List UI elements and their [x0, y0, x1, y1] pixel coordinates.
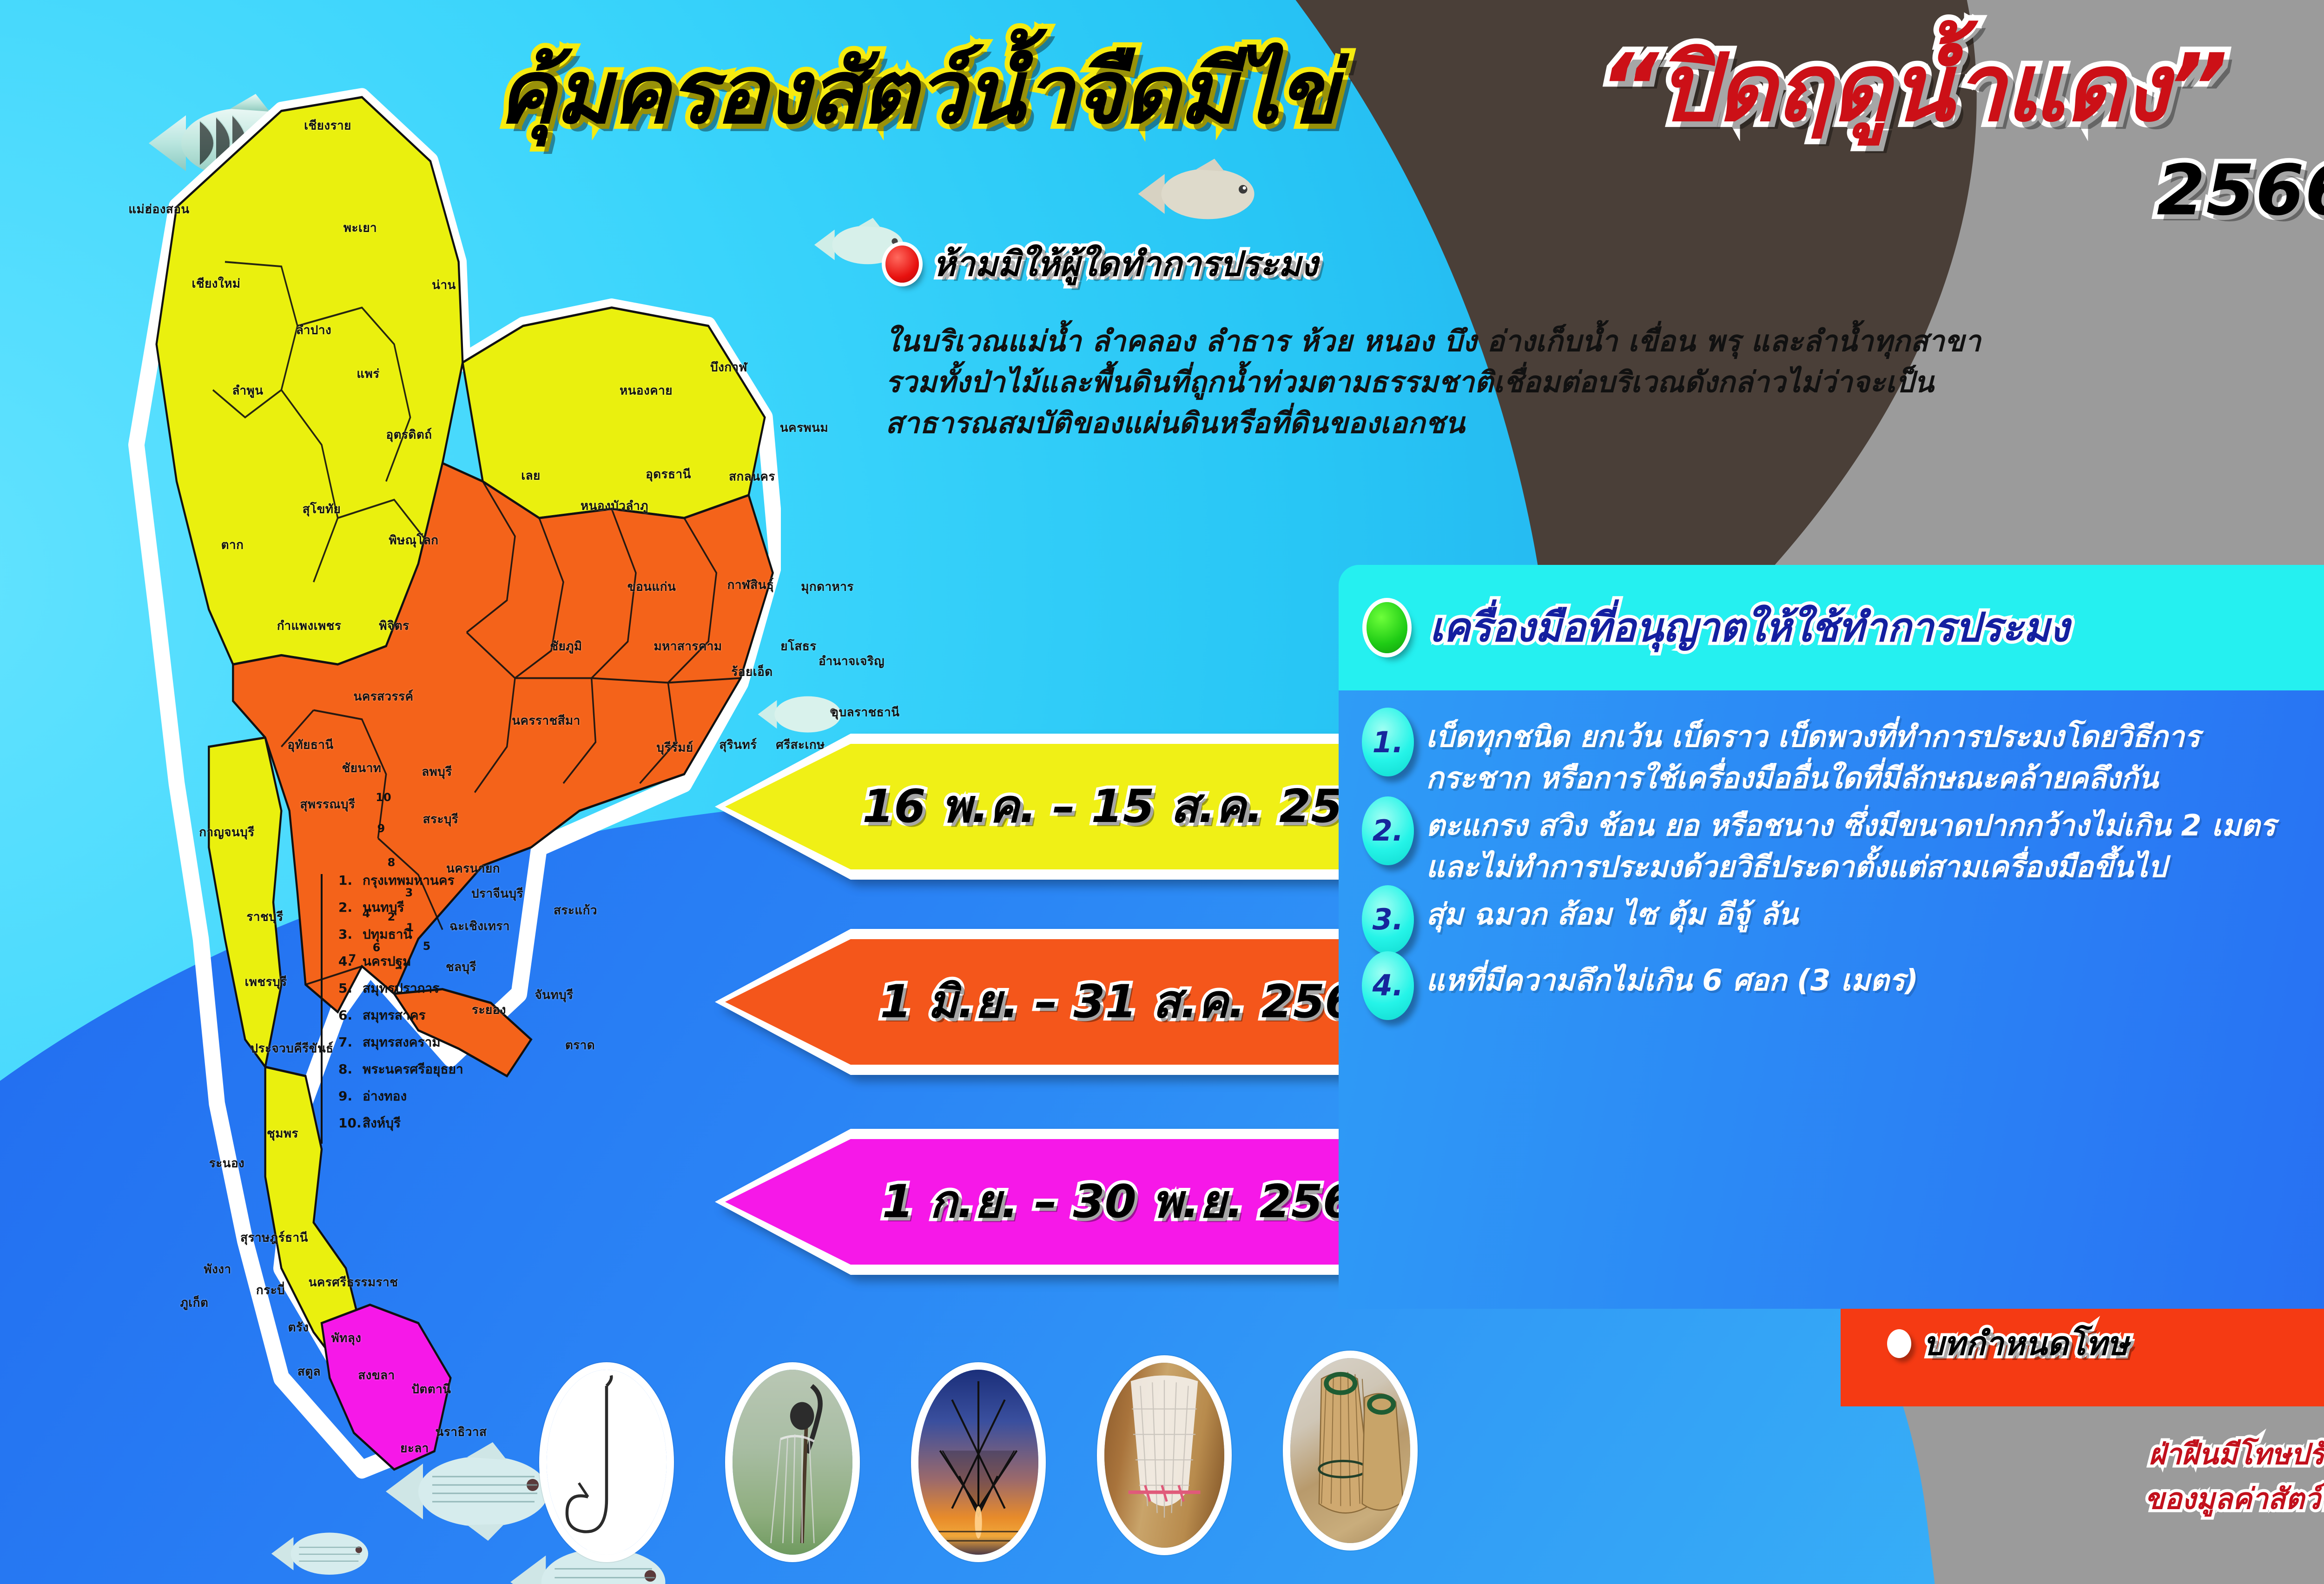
province-label-17: อุดรธานี [646, 465, 691, 484]
province-label-65: ยะลา [400, 1439, 429, 1458]
page-title-quoted: “ปิดฤดูน้ำแดง” [1599, 42, 2227, 135]
legend-item-5: 5.สมุทรปราการ [338, 982, 463, 995]
gear-item-3: 3.สุ่ม ฉมวก ส้อม ไซ ตุ้ม อีจู้ ลัน [1362, 894, 2324, 954]
penalty-text: ฝ่าฝืนมีโทษปรับตั้งแต่ 5,000 – 50,000 บา… [1868, 1432, 2324, 1521]
green-dot-icon [1367, 602, 1407, 653]
province-label-2: พะเยา [343, 219, 377, 238]
province-label-40: กาญจนบุรี [199, 823, 254, 842]
date-banner-label: 1 มิ.ย. – 31 ส.ค. 2566 [880, 979, 1388, 1025]
province-label-45: ราชบุรี [246, 908, 283, 927]
date-banner-period-1[interactable]: 16 พ.ค. – 15 ส.ค. 2566 [725, 744, 1436, 869]
gear-item-line-1: และไม่ทำการประมงด้วยวิธีประดาตั้งแต่สามเ… [1426, 846, 2324, 888]
fish-hook-photo [539, 1362, 674, 1562]
province-label-39: สระบุรี [423, 810, 459, 829]
province-label-43: สระแก้ว [554, 901, 597, 920]
cast-net-image [733, 1370, 852, 1555]
province-number-9: 9 [377, 822, 385, 835]
gear-item-text: สุ่ม ฉมวก ส้อม ไซ ตุ้ม อีจู้ ลัน [1426, 894, 2324, 935]
province-label-23: มุกดาหาร [801, 577, 854, 596]
scoop-net-photo [1097, 1355, 1232, 1555]
province-label-24: ชัยภูมิ [550, 637, 582, 656]
scoop-net-image [1104, 1363, 1224, 1548]
province-label-26: ร้อยเอ็ด [731, 663, 772, 682]
province-label-13: พิจิตร [379, 616, 409, 636]
province-label-9: สุโขทัย [303, 500, 341, 519]
province-label-50: เพชรบุรี [244, 973, 287, 992]
province-label-47: จันทบุรี [535, 986, 573, 1005]
poster-canvas: เชียงรายแม่ฮ่องสอนพะเยาน่านเชียงใหม่ลำปา… [0, 0, 2324, 1584]
province-label-33: นครราชสีมา [512, 711, 580, 730]
bamboo-trap-image [1290, 1358, 1410, 1543]
province-label-25: มหาสารคาม [654, 637, 722, 656]
province-label-27: ยโสธร [780, 637, 816, 656]
province-label-16: บึงกาฬ [710, 358, 747, 377]
province-label-56: นครศรีธรรมราช [309, 1273, 398, 1292]
lift-net-image [918, 1370, 1038, 1555]
red-dot-icon [885, 245, 919, 283]
province-label-58: ภูเก็ต [180, 1293, 209, 1312]
gear-item-line-1: กระชาก หรือการใช้เครื่องมืออื่นใดที่มีลั… [1426, 757, 2324, 799]
date-banner-label: 16 พ.ค. – 15 ส.ค. 2566 [862, 784, 1406, 829]
ban-body-line-1: รวมทั้งป่าไม้และพื้นดินที่ถูกน้ำท่วมตามธ… [885, 362, 2324, 403]
gear-item-2: 2.ตะแกรง สวิง ช้อน ยอ หรือชนาง ซึ่งมีขนา… [1362, 805, 2324, 888]
gear-item-line-0: สุ่ม ฉมวก ส้อม ไซ ตุ้ม อีจู้ ลัน [1426, 894, 2324, 935]
province-label-15: หนองคาย [620, 381, 673, 400]
province-label-29: อุบลราชธานี [831, 703, 899, 722]
legend-item-1: 1.กรุงเทพมหานคร [338, 874, 463, 887]
cast-net-photo [725, 1362, 860, 1562]
province-label-57: กระบี่ [256, 1281, 285, 1300]
white-dot-icon [1887, 1329, 1911, 1358]
province-label-61: สตูล [297, 1362, 321, 1381]
province-label-64: นราธิวาส [436, 1423, 487, 1442]
province-label-63: ปัตตานี [411, 1380, 451, 1399]
province-label-4: เชียงใหม่ [192, 274, 241, 293]
province-label-54: สุราษฎร์ธานี [240, 1228, 308, 1247]
date-banner-period-3[interactable]: 1 ก.ย. – 30 พ.ย. 2566 [725, 1139, 1436, 1265]
legend-item-8: 8.พระนครศรีอยุธยา [338, 1063, 463, 1076]
ban-headline: ห้ามมิให้ผู้ใดทำการประมง [933, 247, 1318, 281]
province-label-18: สกลนคร [729, 467, 775, 486]
province-label-20: หนองบัวลำภู [581, 497, 648, 516]
date-banner-label: 1 ก.ย. – 30 พ.ย. 2566 [882, 1179, 1386, 1225]
legend-item-10: 10.สิงห์บุรี [338, 1117, 463, 1130]
province-label-32: บุรีรัมย์ [656, 738, 693, 757]
province-label-38: สุพรรณบุรี [300, 795, 355, 814]
province-label-12: กำแพงเพชร [277, 616, 342, 636]
gear-item-text: แหที่มีความลึกไม่เกิน 6 ศอก (3 เมตร) [1426, 960, 2324, 1001]
province-label-52: ชุมพร [267, 1124, 298, 1143]
legend-item-6: 6.สมุทรสาคร [338, 1009, 463, 1022]
penalty-heading-row: บทกำหนดโทษ [1887, 1327, 2129, 1360]
legend-item-2: 2.นนทบุรี [338, 901, 463, 914]
bamboo-trap-photo [1283, 1351, 1418, 1551]
ban-body-line-0: ในบริเวณแม่น้ำ ลำคลอง ลำธาร ห้วย หนอง บึ… [885, 321, 2324, 362]
page-title: คุ้มครองสัตว์น้ำจืดมีไข่ [497, 49, 1337, 136]
province-label-59: ตรัง [288, 1318, 309, 1337]
province-label-6: แพร่ [357, 365, 379, 384]
province-label-21: ขอนแก่น [627, 577, 676, 596]
thailand-province-map[interactable]: เชียงรายแม่ฮ่องสอนพะเยาน่านเชียงใหม่ลำปา… [56, 70, 781, 1488]
province-label-35: อุทัยธานี [287, 736, 333, 755]
province-label-49: ตราด [565, 1036, 595, 1055]
gear-item-1: 1.เบ็ดทุกชนิด ยกเว้น เบ็ดราว เบ็ดพวงที่ท… [1362, 716, 2324, 799]
penalty-line-1: ของมูลค่าสัตว์น้ำที่ได้จากการทำการประมง … [1868, 1477, 2324, 1521]
penalty-heading: บทกำหนดโทษ [1923, 1327, 2129, 1360]
gear-item-text: เบ็ดทุกชนิด ยกเว้น เบ็ดราว เบ็ดพวงที่ทำก… [1426, 716, 2324, 799]
allowed-gear-heading: เครื่องมือที่อนุญาตให้ใช้ทำการประมง [1430, 608, 2069, 648]
gear-item-line-0: ตะแกรง สวิง ช้อน ยอ หรือชนาง ซึ่งมีขนาดป… [1426, 805, 2324, 846]
gear-item-number: 1. [1362, 708, 1414, 776]
gear-item-line-0: เบ็ดทุกชนิด ยกเว้น เบ็ดราว เบ็ดพวงที่ทำก… [1426, 716, 2324, 757]
province-label-1: แม่ฮ่องสอน [128, 200, 189, 219]
gear-item-number: 4. [1362, 951, 1414, 1020]
penalty-line-0: ฝ่าฝืนมีโทษปรับตั้งแต่ 5,000 – 50,000 บา… [1868, 1432, 2324, 1477]
province-label-37: ลพบุรี [422, 762, 452, 782]
gear-item-line-0: แหที่มีความลึกไม่เกิน 6 ศอก (3 เมตร) [1426, 960, 2324, 1001]
province-number-10: 10 [376, 791, 391, 804]
province-label-11: ตาก [221, 536, 244, 555]
gear-item-text: ตะแกรง สวิง ช้อน ยอ หรือชนาง ซึ่งมีขนาดป… [1426, 805, 2324, 888]
province-label-62: สงขลา [358, 1366, 395, 1385]
gear-item-number: 3. [1362, 885, 1414, 954]
bangkok-region-legend: 1.กรุงเทพมหานคร2.นนทบุรี3.ปทุมธานี4.นครป… [321, 874, 463, 1144]
legend-item-4: 4.นครปฐม [338, 955, 463, 968]
province-label-8: อุตรดิตถ์ [386, 425, 432, 444]
map-svg [56, 70, 781, 1488]
ban-body-line-2: สาธารณสมบัติของแผ่นดินหรือที่ดินของเอกชน [885, 403, 2324, 444]
province-label-60: พัทลุง [331, 1329, 362, 1348]
page-title-year: 2566 [2157, 156, 2324, 225]
province-label-22: กาฬสินธุ์ [727, 576, 774, 595]
lift-net-sunset-photo [911, 1362, 1046, 1562]
province-number-8: 8 [388, 856, 396, 869]
province-label-3: น่าน [432, 276, 456, 295]
legend-item-7: 7.สมุทรสงคราม [338, 1036, 463, 1049]
legend-item-9: 9.อ่างทอง [338, 1090, 463, 1103]
gear-item-4: 4.แหที่มีความลึกไม่เกิน 6 ศอก (3 เมตร) [1362, 960, 2324, 1020]
date-banner-period-2[interactable]: 1 มิ.ย. – 31 ส.ค. 2566 [725, 939, 1436, 1065]
fish-hook-image [547, 1370, 667, 1555]
province-label-7: ลำพูน [232, 381, 264, 400]
province-label-34: นครสวรรค์ [354, 687, 414, 706]
province-label-5: ลำปาง [296, 321, 331, 340]
province-label-55: พังงา [204, 1260, 231, 1279]
gear-item-number: 2. [1362, 796, 1414, 865]
province-label-36: ชัยนาท [342, 759, 382, 778]
allowed-gear-panel-header: เครื่องมือที่อนุญาตให้ใช้ทำการประมง [1339, 565, 2324, 690]
ban-headline-row: ห้ามมิให้ผู้ใดทำการประมง [885, 245, 1318, 283]
ban-body-text: ในบริเวณแม่น้ำ ลำคลอง ลำธาร ห้วย หนอง บึ… [885, 321, 2324, 444]
legend-item-3: 3.ปทุมธานี [338, 928, 463, 941]
province-label-14: เลย [521, 466, 541, 485]
province-label-53: ระนอง [209, 1154, 245, 1173]
province-label-19: นครพนม [780, 418, 828, 437]
province-label-42: ปราจีนบุรี [471, 884, 523, 903]
province-label-28: อำนาจเจริญ [819, 652, 885, 671]
allowed-gear-list: 1.เบ็ดทุกชนิด ยกเว้น เบ็ดราว เบ็ดพวงที่ท… [1362, 716, 2324, 1026]
province-label-48: ระยอง [472, 1001, 506, 1020]
province-label-0: เชียงราย [304, 116, 351, 135]
province-label-10: พิษณุโลก [389, 531, 438, 550]
